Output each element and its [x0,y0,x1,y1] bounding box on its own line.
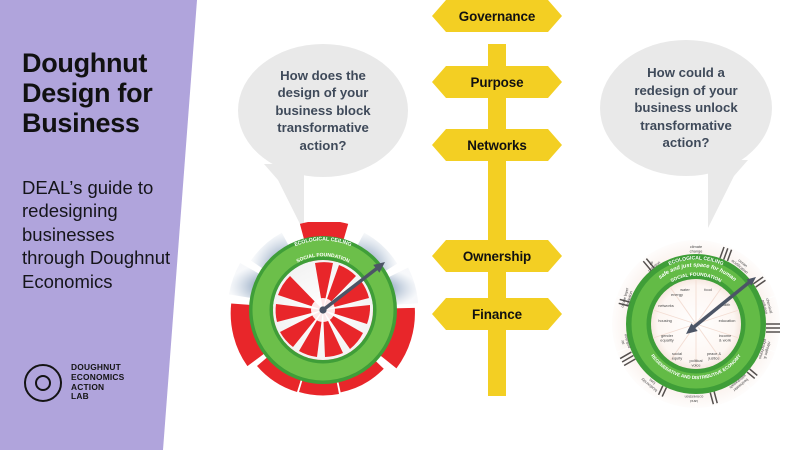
svg-text:energy: energy [671,292,683,297]
doughnut-circle-icon [24,364,62,402]
svg-text:income& work: income& work [719,333,732,343]
logo-line-3: ACTION [71,382,104,392]
svg-text:genderequality: genderequality [660,333,673,343]
deal-logo: DOUGHNUT ECONOMICS ACTION LAB [24,363,124,402]
logo-line-4: LAB [71,391,89,401]
signpost-sign-governance[interactable]: Governance [432,0,562,32]
logo-line-2: ECONOMICS [71,372,124,382]
svg-text:education: education [719,318,736,323]
svg-text:socialequity: socialequity [672,351,682,361]
sign-label: Purpose [471,75,524,90]
speech-bubble-right-text: How could a redesign of your business un… [600,40,772,176]
svg-text:housing: housing [658,318,672,323]
signpost-sign-ownership[interactable]: Ownership [432,240,562,272]
deal-logo-text: DOUGHNUT ECONOMICS ACTION LAB [71,363,124,402]
doughnut-right-svg: water food health education income& work… [608,238,784,410]
logo-line-1: DOUGHNUT [71,362,121,372]
page-subtitle: DEAL’s guide to redesigning businesses t… [22,176,182,293]
slide-canvas: Doughnut Design for Business DEAL’s guid… [0,0,800,450]
doughnut-diagram-right: water food health education income& work… [608,238,784,410]
svg-text:food: food [704,287,712,292]
sign-label: Networks [467,138,526,153]
sign-label: Finance [472,307,522,322]
svg-text:climatechange: climatechange [690,244,703,254]
svg-text:networks: networks [658,303,674,308]
svg-text:peace &justice: peace &justice [707,351,722,361]
speech-bubble-right: How could a redesign of your business un… [600,40,772,176]
doughnut-diagram-left: ECOLOGICAL CEILING SOCIAL FOUNDATION [228,222,418,402]
signpost-sign-purpose[interactable]: Purpose [432,66,562,98]
sign-label: Governance [459,9,535,24]
signpost-sign-networks[interactable]: Networks [432,129,562,161]
doughnut-left-svg: ECOLOGICAL CEILING SOCIAL FOUNDATION [228,222,418,402]
sign-label: Ownership [463,249,531,264]
speech-bubble-left: How does the design of your business blo… [238,44,408,177]
page-title: Doughnut Design for Business [22,48,182,139]
speech-bubble-left-text: How does the design of your business blo… [238,44,408,177]
signpost-sign-finance[interactable]: Finance [432,298,562,330]
